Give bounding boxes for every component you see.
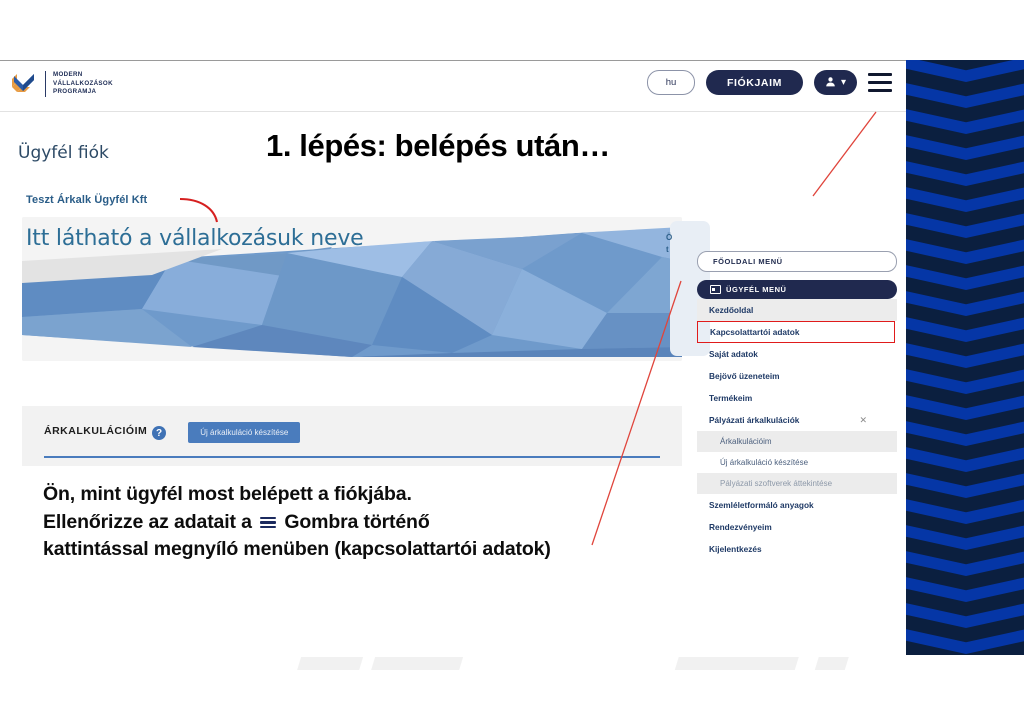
user-caret-icon: ▾: [841, 77, 846, 88]
menu-item-bej-v-zeneteim[interactable]: Bejövő üzeneteim: [697, 365, 897, 387]
menu-item-saj-t-adatok[interactable]: Saját adatok: [697, 343, 897, 365]
chevron-stripe: [905, 238, 1024, 264]
note-line-2b: Gombra történő: [279, 511, 430, 533]
note-line-2: Ellenőrizze az adatait a Gombra történő: [43, 509, 551, 537]
chevron-stripe: [905, 446, 1024, 472]
chevron-stripe: [905, 654, 1024, 655]
chevron-stripe: [905, 472, 1024, 498]
menu-item-rendezv-nyeim[interactable]: Rendezvényeim: [697, 516, 897, 538]
hero-side-text: Öt: [666, 232, 682, 257]
chevron-stripe: [905, 160, 1024, 186]
chevron-stripe: [905, 628, 1024, 654]
note-line-2a: Ellenőrizze az adatait a: [43, 511, 257, 533]
logo-wordmark: MODERNVÁLLALKOZÁSOKPROGRAMJA: [53, 71, 113, 97]
menu-section-label: ÜGYFÉL MENÜ: [726, 285, 787, 294]
menu-item-label: Bejövő üzeneteim: [709, 371, 780, 381]
brand-logo[interactable]: MODERNVÁLLALKOZÁSOKPROGRAMJA: [8, 69, 113, 99]
chevron-stripe: [905, 316, 1024, 342]
chevron-stripe: [905, 394, 1024, 420]
help-icon[interactable]: ?: [152, 426, 166, 440]
note-line-3: kattintással megnyíló menüben (kapcsolat…: [43, 536, 551, 564]
logo-divider: [45, 71, 46, 97]
chevron-stripe: [905, 524, 1024, 550]
calculations-title: ÁRKALKULÁCIÓIM?: [44, 425, 166, 441]
menu-home-pill[interactable]: FŐOLDALI MENÜ: [697, 251, 897, 272]
chevron-stripe: [905, 602, 1024, 628]
menu-item-kijelentkez-s[interactable]: Kijelentkezés: [697, 538, 897, 560]
account-menu: FŐOLDALI MENÜ ÜGYFÉL MENÜ KezdőoldalKapc…: [697, 251, 897, 560]
menu-item-p-ly-zati-rkalkul-ci-k[interactable]: Pályázati árkalkulációk✕: [697, 409, 897, 431]
menu-item-label: Kezdőoldal: [709, 305, 753, 315]
hamburger-menu-icon[interactable]: [868, 73, 892, 92]
chevron-stripe: [905, 212, 1024, 238]
calculations-divider: [44, 456, 660, 458]
chevron-stripe: [905, 420, 1024, 446]
menu-item-label: Kapcsolattartói adatok: [710, 327, 799, 337]
user-menu-button[interactable]: ▾: [814, 70, 857, 95]
note-line-1: Ön, mint ügyfél most belépett a fiókjába…: [43, 481, 551, 509]
menu-section-header: ÜGYFÉL MENÜ: [697, 280, 897, 299]
calculations-title-text: ÁRKALKULÁCIÓIM: [44, 425, 147, 437]
menu-item-kapcsolattart-i-adatok[interactable]: Kapcsolattartói adatok: [697, 321, 895, 343]
menu-item-label: Új árkalkuláció készítése: [720, 458, 808, 467]
chevron-stripe: [905, 82, 1024, 108]
chevron-stripe: [905, 264, 1024, 290]
id-card-icon: [710, 285, 721, 294]
hero-title: Itt látható a vállalkozásuk neve: [26, 226, 363, 251]
menu-item-szeml-letform-l-anyagok[interactable]: Szemléletformáló anyagok: [697, 494, 897, 516]
menu-item-term-keim[interactable]: Termékeim: [697, 387, 897, 409]
close-icon[interactable]: ✕: [859, 415, 867, 426]
user-icon: [825, 76, 836, 90]
chevron-stripe: [905, 134, 1024, 160]
menu-subitem-p-ly-zati-szoftverek-ttekint-se[interactable]: Pályázati szoftverek áttekintése: [697, 473, 897, 494]
chevron-stripe: [905, 498, 1024, 524]
menu-item-label: Rendezvényeim: [709, 522, 772, 532]
menu-item-label: Pályázati árkalkulációk: [709, 415, 799, 425]
header-actions: hu FIÓKJAIM ▾: [647, 70, 892, 95]
chevron-stripe: [905, 368, 1024, 394]
menu-item-label: Árkalkulációim: [720, 437, 772, 446]
menu-item-label: Kijelentkezés: [709, 544, 762, 554]
new-calculation-button[interactable]: Új árkalkuláció készítése: [188, 422, 300, 443]
chevron-stripe: [905, 108, 1024, 134]
hamburger-inline-icon: [260, 517, 276, 529]
app-header-bar: MODERNVÁLLALKOZÁSOKPROGRAMJA hu FIÓKJAIM…: [0, 61, 906, 112]
company-name-label: Teszt Árkalk Ügyfél Kft: [26, 194, 147, 206]
chevron-stripe: [905, 342, 1024, 368]
language-switch[interactable]: hu: [647, 70, 695, 95]
accounts-button[interactable]: FIÓKJAIM: [706, 70, 803, 95]
menu-subitem--j-rkalkul-ci-k-sz-t-se[interactable]: Új árkalkuláció készítése: [697, 452, 897, 473]
menu-item-label: Szemléletformáló anyagok: [709, 500, 814, 510]
menu-item-label: Termékeim: [709, 393, 752, 403]
chevron-stripe: [905, 60, 1024, 82]
menu-item-kezd-oldal[interactable]: Kezdőoldal: [697, 299, 897, 321]
annotation-note: Ön, mint ügyfél most belépett a fiókjába…: [43, 481, 551, 564]
calculations-panel: ÁRKALKULÁCIÓIM? Új árkalkuláció készítés…: [22, 406, 682, 466]
page-title: Ügyfél fiók: [18, 143, 109, 163]
chevron-stripe: [905, 186, 1024, 212]
menu-item-label: Saját adatok: [709, 349, 758, 359]
chevron-stripe: [905, 576, 1024, 602]
chevron-stripe: [905, 550, 1024, 576]
menu-subitem--rkalkul-ci-im[interactable]: Árkalkulációim: [697, 431, 897, 452]
chevron-stripe: [905, 290, 1024, 316]
slide-title: 1. lépés: belépés után…: [266, 128, 610, 164]
chevron-band: [905, 60, 1024, 655]
menu-item-label: Pályázati szoftverek áttekintése: [720, 479, 832, 488]
logo-mark-icon: [8, 69, 38, 99]
slide-root: MODERNVÁLLALKOZÁSOKPROGRAMJA hu FIÓKJAIM…: [0, 0, 1024, 724]
